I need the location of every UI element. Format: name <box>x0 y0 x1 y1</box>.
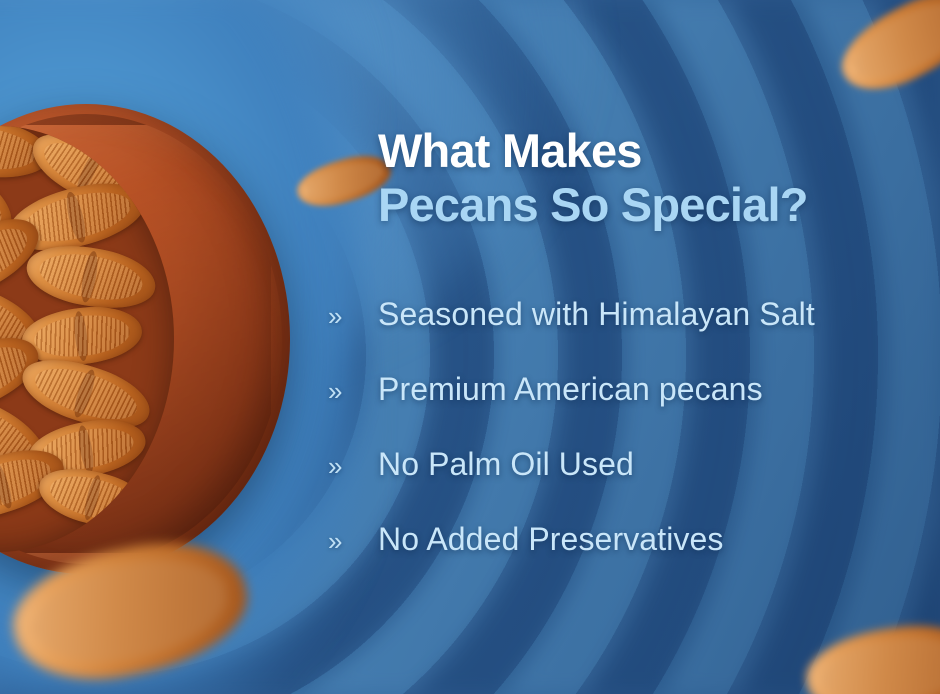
list-item: » No Palm Oil Used <box>320 446 940 521</box>
page-title: What Makes Pecans So Special? <box>378 124 938 231</box>
content-panel: What Makes Pecans So Special? » Seasoned… <box>312 0 940 694</box>
chevron-double-right-icon: » <box>320 526 378 557</box>
feature-label: Seasoned with Himalayan Salt <box>378 296 815 333</box>
promotional-banner: What Makes Pecans So Special? » Seasoned… <box>0 0 940 694</box>
list-item: » Premium American pecans <box>320 371 940 446</box>
feature-label: No Added Preservatives <box>378 521 724 558</box>
pecan-bowl-photo <box>0 104 290 574</box>
feature-label: Premium American pecans <box>378 371 763 408</box>
chevron-double-right-icon: » <box>320 451 378 482</box>
list-item: » Seasoned with Himalayan Salt <box>320 296 940 371</box>
chevron-double-right-icon: » <box>320 301 378 332</box>
feature-label: No Palm Oil Used <box>378 446 634 483</box>
chevron-double-right-icon: » <box>320 376 378 407</box>
feature-list: » Seasoned with Himalayan Salt » Premium… <box>320 296 940 596</box>
headline-line-1: What Makes <box>378 124 938 178</box>
list-item: » No Added Preservatives <box>320 521 940 596</box>
headline-line-2: Pecans So Special? <box>378 178 938 232</box>
